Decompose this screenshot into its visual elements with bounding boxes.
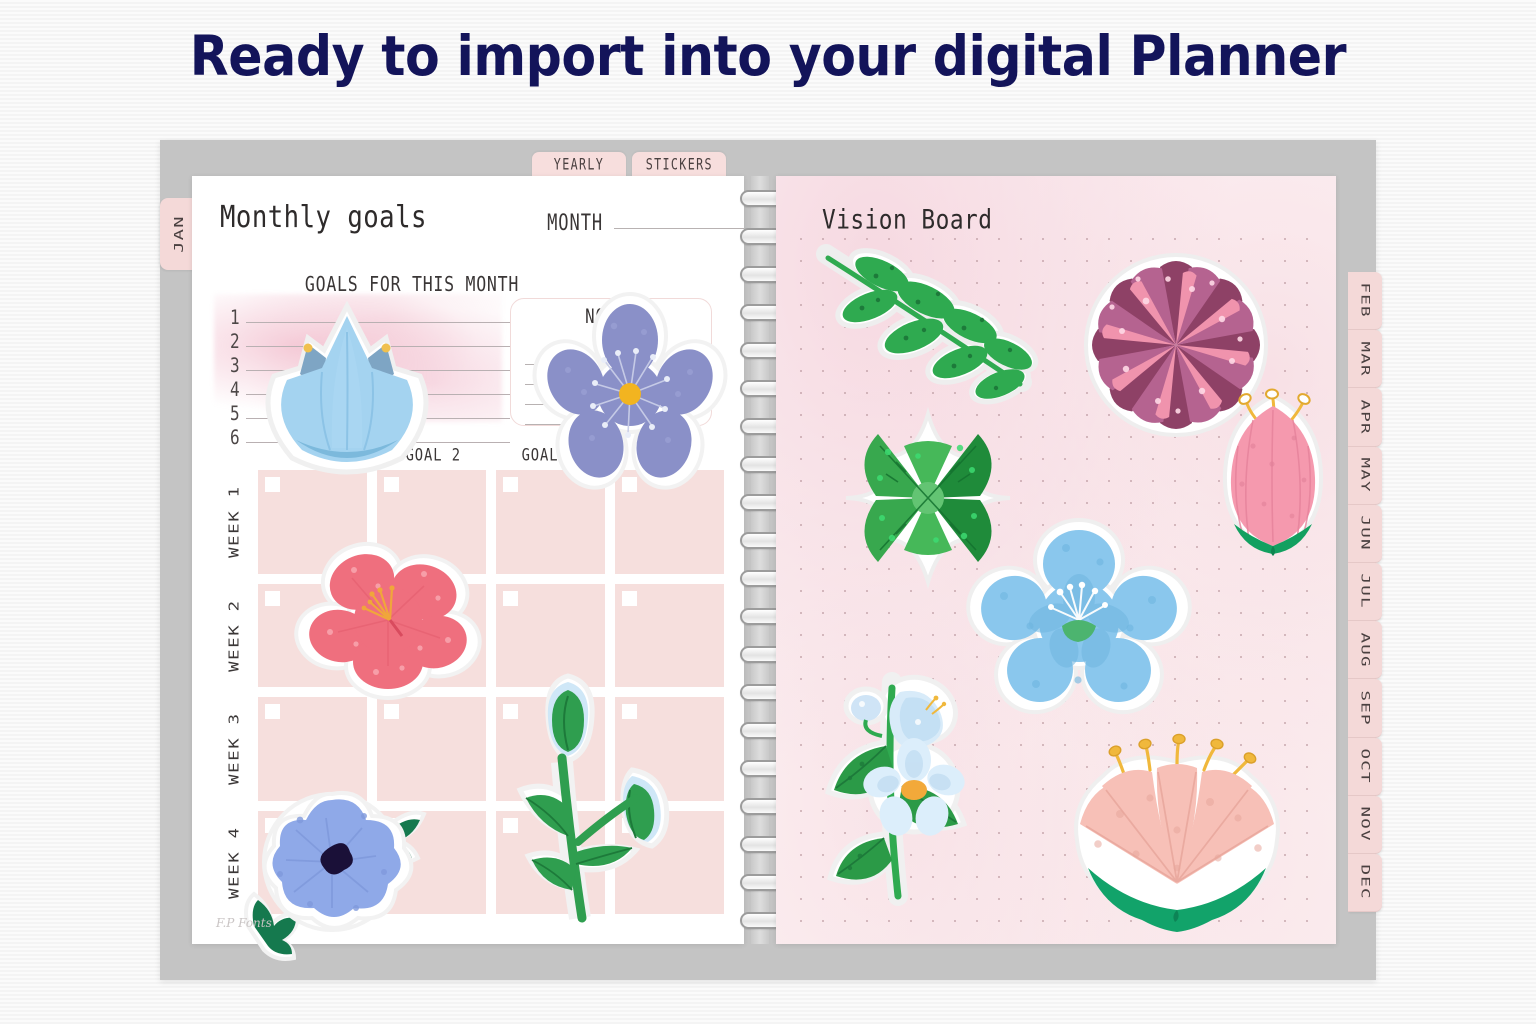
month-tab-may[interactable]: MAY: [1348, 447, 1382, 505]
monthly-goals-heading: Monthly goals: [220, 200, 427, 235]
month-tab-oct-label: OCT: [1358, 748, 1372, 783]
goal-number: 5: [230, 404, 246, 423]
month-tab-jul-label: JUL: [1358, 574, 1372, 609]
checkbox[interactable]: [622, 591, 637, 606]
spiral-spine: [751, 176, 769, 944]
month-field[interactable]: MONTH: [544, 212, 744, 234]
month-tab-aug[interactable]: AUG: [1348, 621, 1382, 679]
tab-yearly-label: YEARLY: [554, 157, 604, 175]
checkbox[interactable]: [265, 704, 280, 719]
month-tab-jun-label: JUN: [1358, 516, 1372, 551]
month-tab-nov[interactable]: NOV: [1348, 796, 1382, 854]
month-tab-dec[interactable]: DEC: [1348, 854, 1382, 912]
blue-blossom-sticker[interactable]: [974, 514, 1184, 714]
goals-section-heading: GOALS FOR THIS MONTH: [274, 272, 550, 296]
coral-hibiscus-sticker[interactable]: [298, 540, 478, 700]
vision-board-heading: Vision Board: [822, 204, 992, 235]
white-blossom-sprig-sticker[interactable]: [822, 664, 1002, 914]
month-field-line[interactable]: [614, 227, 744, 229]
pink-tulip-bud-sticker[interactable]: [1208, 384, 1338, 564]
tab-stickers-label: STICKERS: [645, 157, 712, 175]
checkbox[interactable]: [503, 477, 518, 492]
month-tab-feb-label: FEB: [1358, 283, 1372, 318]
checkbox[interactable]: [503, 591, 518, 606]
month-tab-mar-label: MAR: [1358, 341, 1372, 376]
grid-header-week-1-label: WEEK 1: [226, 485, 242, 558]
green-bud-stem-sticker[interactable]: [510, 666, 700, 926]
periwinkle-flower-sticker[interactable]: [540, 298, 720, 488]
grid-header-week-3-label: WEEK 3: [226, 712, 242, 785]
month-tab-apr[interactable]: APR: [1348, 388, 1382, 446]
month-tab-jan-label: JAN: [171, 215, 186, 253]
month-tab-may-label: MAY: [1358, 457, 1372, 492]
checkbox[interactable]: [265, 591, 280, 606]
peach-fan-flower-sticker[interactable]: [1062, 732, 1292, 922]
checkbox[interactable]: [384, 704, 399, 719]
page-title: Ready to import into your digital Planne…: [61, 24, 1474, 88]
month-tab-sep[interactable]: SEP: [1348, 679, 1382, 737]
month-tab-feb[interactable]: FEB: [1348, 272, 1382, 330]
grid-header-week-2-label: WEEK 2: [226, 599, 242, 672]
goal-number: 3: [230, 356, 246, 375]
goal-number: 6: [230, 428, 246, 447]
goal-number: 1: [230, 308, 246, 327]
month-tab-nov-label: NOV: [1358, 807, 1372, 842]
month-tabs-sidebar: FEB MAR APR MAY JUN JUL AUG SEP OCT NOV …: [1348, 272, 1382, 912]
left-page: Monthly goals MONTH GOALS FOR THIS MONTH…: [192, 176, 744, 944]
month-tab-oct[interactable]: OCT: [1348, 738, 1382, 796]
right-page: Vision Board: [776, 176, 1336, 944]
blue-lotus-sticker[interactable]: [252, 298, 442, 488]
month-tab-apr-label: APR: [1358, 399, 1372, 434]
goal-number: 2: [230, 332, 246, 351]
month-tab-dec-label: DEC: [1358, 865, 1372, 900]
grid-header-week-2: WEEK 2: [212, 584, 256, 688]
watermark: F.P Fonts: [216, 916, 272, 930]
month-tab-aug-label: AUG: [1358, 632, 1372, 667]
month-tab-jun[interactable]: JUN: [1348, 505, 1382, 563]
month-tab-sep-label: SEP: [1358, 690, 1372, 725]
goal-number: 4: [230, 380, 246, 399]
grid-header-week-1: WEEK 1: [212, 470, 256, 574]
green-leaf-branch-sticker[interactable]: [814, 238, 1034, 408]
spiral-binding: [740, 176, 780, 944]
month-tab-mar[interactable]: MAR: [1348, 330, 1382, 388]
month-tab-jul[interactable]: JUL: [1348, 563, 1382, 621]
month-field-label: MONTH: [547, 210, 603, 235]
